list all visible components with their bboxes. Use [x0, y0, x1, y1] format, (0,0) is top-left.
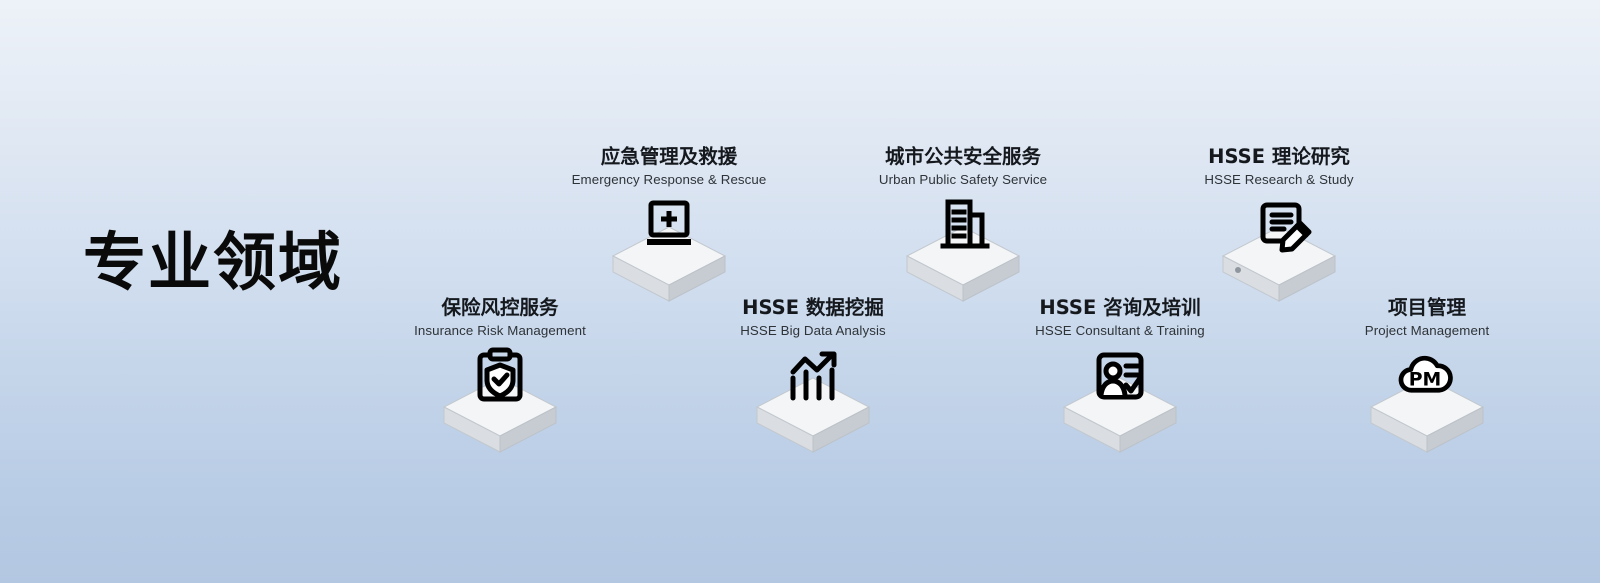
domain-title: HSSE 理论研究 — [1149, 145, 1409, 169]
domain-item-hsse-big-data-analysis[interactable]: HSSE 数据挖掘 HSSE Big Data Analysis — [683, 296, 943, 456]
professional-domains-banner: 专业领域 应急管理及救援 Emergency Response & Rescue — [0, 0, 1600, 583]
first-aid-kit-icon — [637, 195, 701, 259]
domain-title: HSSE 咨询及培训 — [990, 296, 1250, 320]
domain-item-emergency-response-rescue[interactable]: 应急管理及救援 Emergency Response & Rescue — [539, 145, 799, 305]
domain-subtitle: HSSE Consultant & Training — [990, 322, 1250, 340]
domain-icon-pedestal — [1149, 195, 1409, 305]
domain-icon-pedestal — [683, 346, 943, 456]
domain-title: 保险风控服务 — [370, 296, 630, 320]
domain-icon-pedestal — [370, 346, 630, 456]
domain-icon-pedestal: PM — [1297, 346, 1557, 456]
domain-icon-pedestal — [833, 195, 1093, 305]
page-title: 专业领域 — [83, 228, 343, 297]
domain-icon-pedestal — [990, 346, 1250, 456]
domain-subtitle: Urban Public Safety Service — [833, 171, 1093, 189]
buildings-icon — [931, 195, 995, 259]
domain-title: 应急管理及救援 — [539, 145, 799, 169]
bar-chart-arrow-up-icon — [781, 346, 845, 410]
domain-subtitle: Project Management — [1297, 322, 1557, 340]
svg-text:PM: PM — [1409, 370, 1442, 391]
domain-item-project-management[interactable]: 项目管理 Project Management PM — [1297, 296, 1557, 456]
domain-icon-pedestal — [539, 195, 799, 305]
domain-item-insurance-risk-management[interactable]: 保险风控服务 Insurance Risk Management — [370, 296, 630, 456]
domain-item-hsse-research-study[interactable]: HSSE 理论研究 HSSE Research & Study — [1149, 145, 1409, 305]
clipboard-shield-check-icon — [468, 346, 532, 410]
domain-title: 项目管理 — [1297, 296, 1557, 320]
person-badge-check-icon — [1088, 346, 1152, 410]
domain-subtitle: HSSE Big Data Analysis — [683, 322, 943, 340]
domain-subtitle: HSSE Research & Study — [1149, 171, 1409, 189]
domain-title: 城市公共安全服务 — [833, 145, 1093, 169]
cloud-pm-icon: PM — [1393, 346, 1461, 410]
domain-item-urban-public-safety-service[interactable]: 城市公共安全服务 Urban Public Safety Service — [833, 145, 1093, 305]
domain-item-hsse-consultant-training[interactable]: HSSE 咨询及培训 HSSE Consultant & Training — [990, 296, 1250, 456]
domain-title: HSSE 数据挖掘 — [683, 296, 943, 320]
domain-subtitle: Insurance Risk Management — [370, 322, 630, 340]
domain-subtitle: Emergency Response & Rescue — [539, 171, 799, 189]
document-pencil-icon — [1253, 195, 1317, 259]
